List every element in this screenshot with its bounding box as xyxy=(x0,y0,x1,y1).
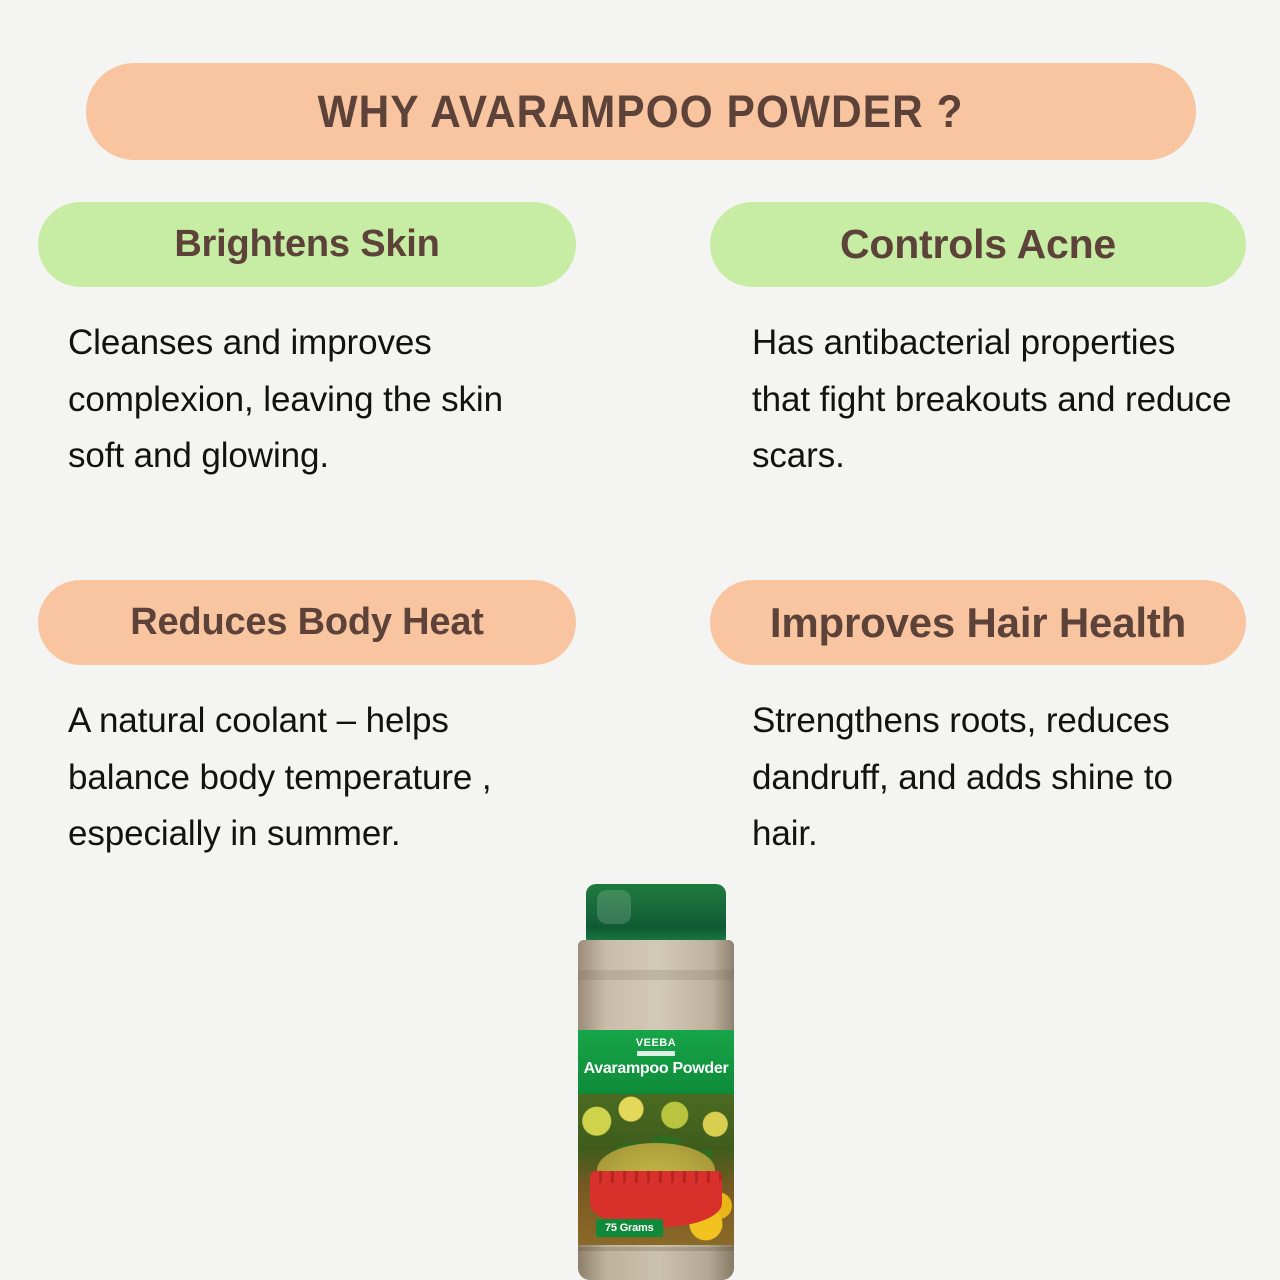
product-label: VEEBA Avarampoo Powder 75 Grams xyxy=(578,1030,734,1245)
benefit-heading: Improves Hair Health xyxy=(770,599,1186,647)
benefit-body: Cleanses and improves complexion, leavin… xyxy=(38,315,576,485)
benefit-pill-reduces-body-heat: Reduces Body Heat xyxy=(38,580,576,665)
benefit-body: A natural coolant – helps balance body t… xyxy=(38,693,576,863)
label-photo: 75 Grams xyxy=(578,1094,734,1245)
benefit-body: Strengthens roots, reduces dandruff, and… xyxy=(710,693,1246,863)
product-bottle-image: VEEBA Avarampoo Powder 75 Grams xyxy=(572,884,740,1280)
benefit-card-improves-hair-health: Improves Hair Health Strengthens roots, … xyxy=(710,580,1246,863)
benefit-card-controls-acne: Controls Acne Has antibacterial properti… xyxy=(710,202,1246,485)
product-label-title: Avarampoo Powder xyxy=(578,1060,734,1078)
benefit-body: Has antibacterial properties that fight … xyxy=(710,315,1246,485)
bottle-cap xyxy=(586,884,726,944)
benefit-card-brightens-skin: Brightens Skin Cleanses and improves com… xyxy=(38,202,576,485)
bottle-body: VEEBA Avarampoo Powder 75 Grams xyxy=(578,940,734,1280)
benefit-pill-controls-acne: Controls Acne xyxy=(710,202,1246,287)
brand-name: VEEBA xyxy=(636,1038,676,1049)
benefit-heading: Controls Acne xyxy=(840,221,1116,268)
brand-underline xyxy=(637,1051,675,1056)
benefit-heading: Brightens Skin xyxy=(174,223,439,266)
label-header: VEEBA Avarampoo Powder xyxy=(578,1030,734,1094)
benefit-card-reduces-body-heat: Reduces Body Heat A natural coolant – he… xyxy=(38,580,576,863)
benefit-pill-improves-hair-health: Improves Hair Health xyxy=(710,580,1246,665)
net-weight-badge: 75 Grams xyxy=(596,1219,663,1237)
benefit-heading: Reduces Body Heat xyxy=(130,601,483,644)
benefit-pill-brightens-skin: Brightens Skin xyxy=(38,202,576,287)
brand-logo-icon: VEEBA xyxy=(628,1034,684,1060)
powder-fill-top xyxy=(578,940,734,1032)
powder-fill-base xyxy=(578,1245,734,1280)
